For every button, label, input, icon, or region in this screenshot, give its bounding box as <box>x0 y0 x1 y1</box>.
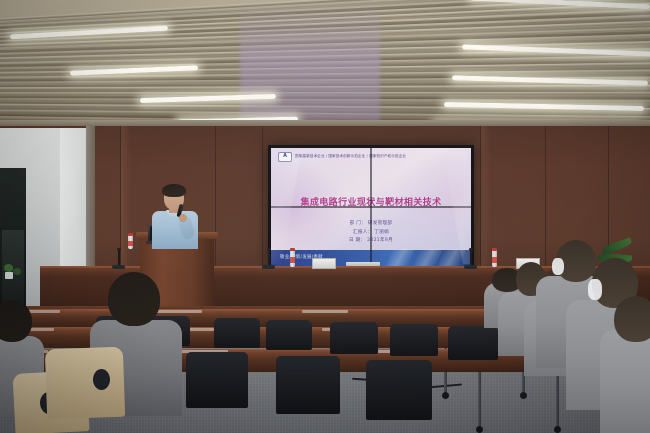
face-mask <box>588 279 602 300</box>
ceiling-purple-glow <box>240 0 380 132</box>
wood-chair-front-2[interactable] <box>45 347 125 420</box>
glasses-icon <box>165 195 183 200</box>
audience-chair-front[interactable] <box>186 352 248 408</box>
audience-chair[interactable] <box>214 318 260 348</box>
plant-small-2 <box>13 268 21 275</box>
desk-caster <box>442 392 449 399</box>
audience-chair[interactable] <box>330 322 378 354</box>
audience-chair[interactable] <box>266 320 312 350</box>
table-document <box>346 262 380 266</box>
audience-chair[interactable] <box>448 326 498 360</box>
bottle-cap <box>128 233 133 236</box>
bottle-label <box>492 257 497 263</box>
table-microphone <box>118 250 120 266</box>
plant-small <box>4 264 13 272</box>
microphone-base <box>262 265 275 269</box>
audience-chair[interactable] <box>390 324 438 356</box>
conference-room-photo: A 国家高新技术企业 / 国家技术创新示范企业 / 国家知识产权示范企业 集成电… <box>0 0 650 433</box>
audience-chair-front[interactable] <box>276 356 340 414</box>
wood-chair-hole-2 <box>93 369 110 390</box>
pot <box>5 272 13 279</box>
face-mask <box>552 258 564 276</box>
audience-person-head-right <box>614 296 650 342</box>
bottle-label <box>290 257 295 263</box>
table-name-card <box>312 258 336 269</box>
video-wall-screen[interactable]: A 国家高新技术企业 / 国家技术创新示范企业 / 国家知识产权示范企业 集成电… <box>268 145 474 269</box>
audience-chair-front[interactable] <box>366 360 432 420</box>
ceiling <box>0 0 650 132</box>
bottle-cap <box>492 248 497 251</box>
desk-writing-pad <box>302 310 348 313</box>
presenter <box>144 186 206 248</box>
microphone-base <box>464 265 477 269</box>
bottle-label <box>128 241 133 246</box>
table-microphone <box>470 250 472 266</box>
audience-person-head <box>108 272 160 326</box>
side-doorway[interactable] <box>0 168 26 316</box>
presentation-slide: A 国家高新技术企业 / 国家技术创新示范企业 / 国家知识产权示范企业 集成电… <box>271 148 471 266</box>
slide-header-text: 国家高新技术企业 / 国家技术创新示范企业 / 国家知识产权示范企业 <box>295 154 406 159</box>
desk-leg <box>556 372 559 426</box>
table-microphone <box>268 250 270 266</box>
microphone-head <box>267 248 271 251</box>
desk-caster <box>476 426 483 433</box>
desk-caster <box>520 392 527 399</box>
microphone-head <box>469 248 473 251</box>
bottle-cap <box>290 248 295 251</box>
audience-person-torso-right <box>600 330 650 433</box>
microphone-head <box>117 248 121 251</box>
presenter-hand <box>179 214 187 222</box>
microphone-base <box>112 265 125 269</box>
desk-writing-pad <box>156 310 202 313</box>
desk-caster <box>554 426 561 433</box>
desk-leg <box>478 372 481 426</box>
